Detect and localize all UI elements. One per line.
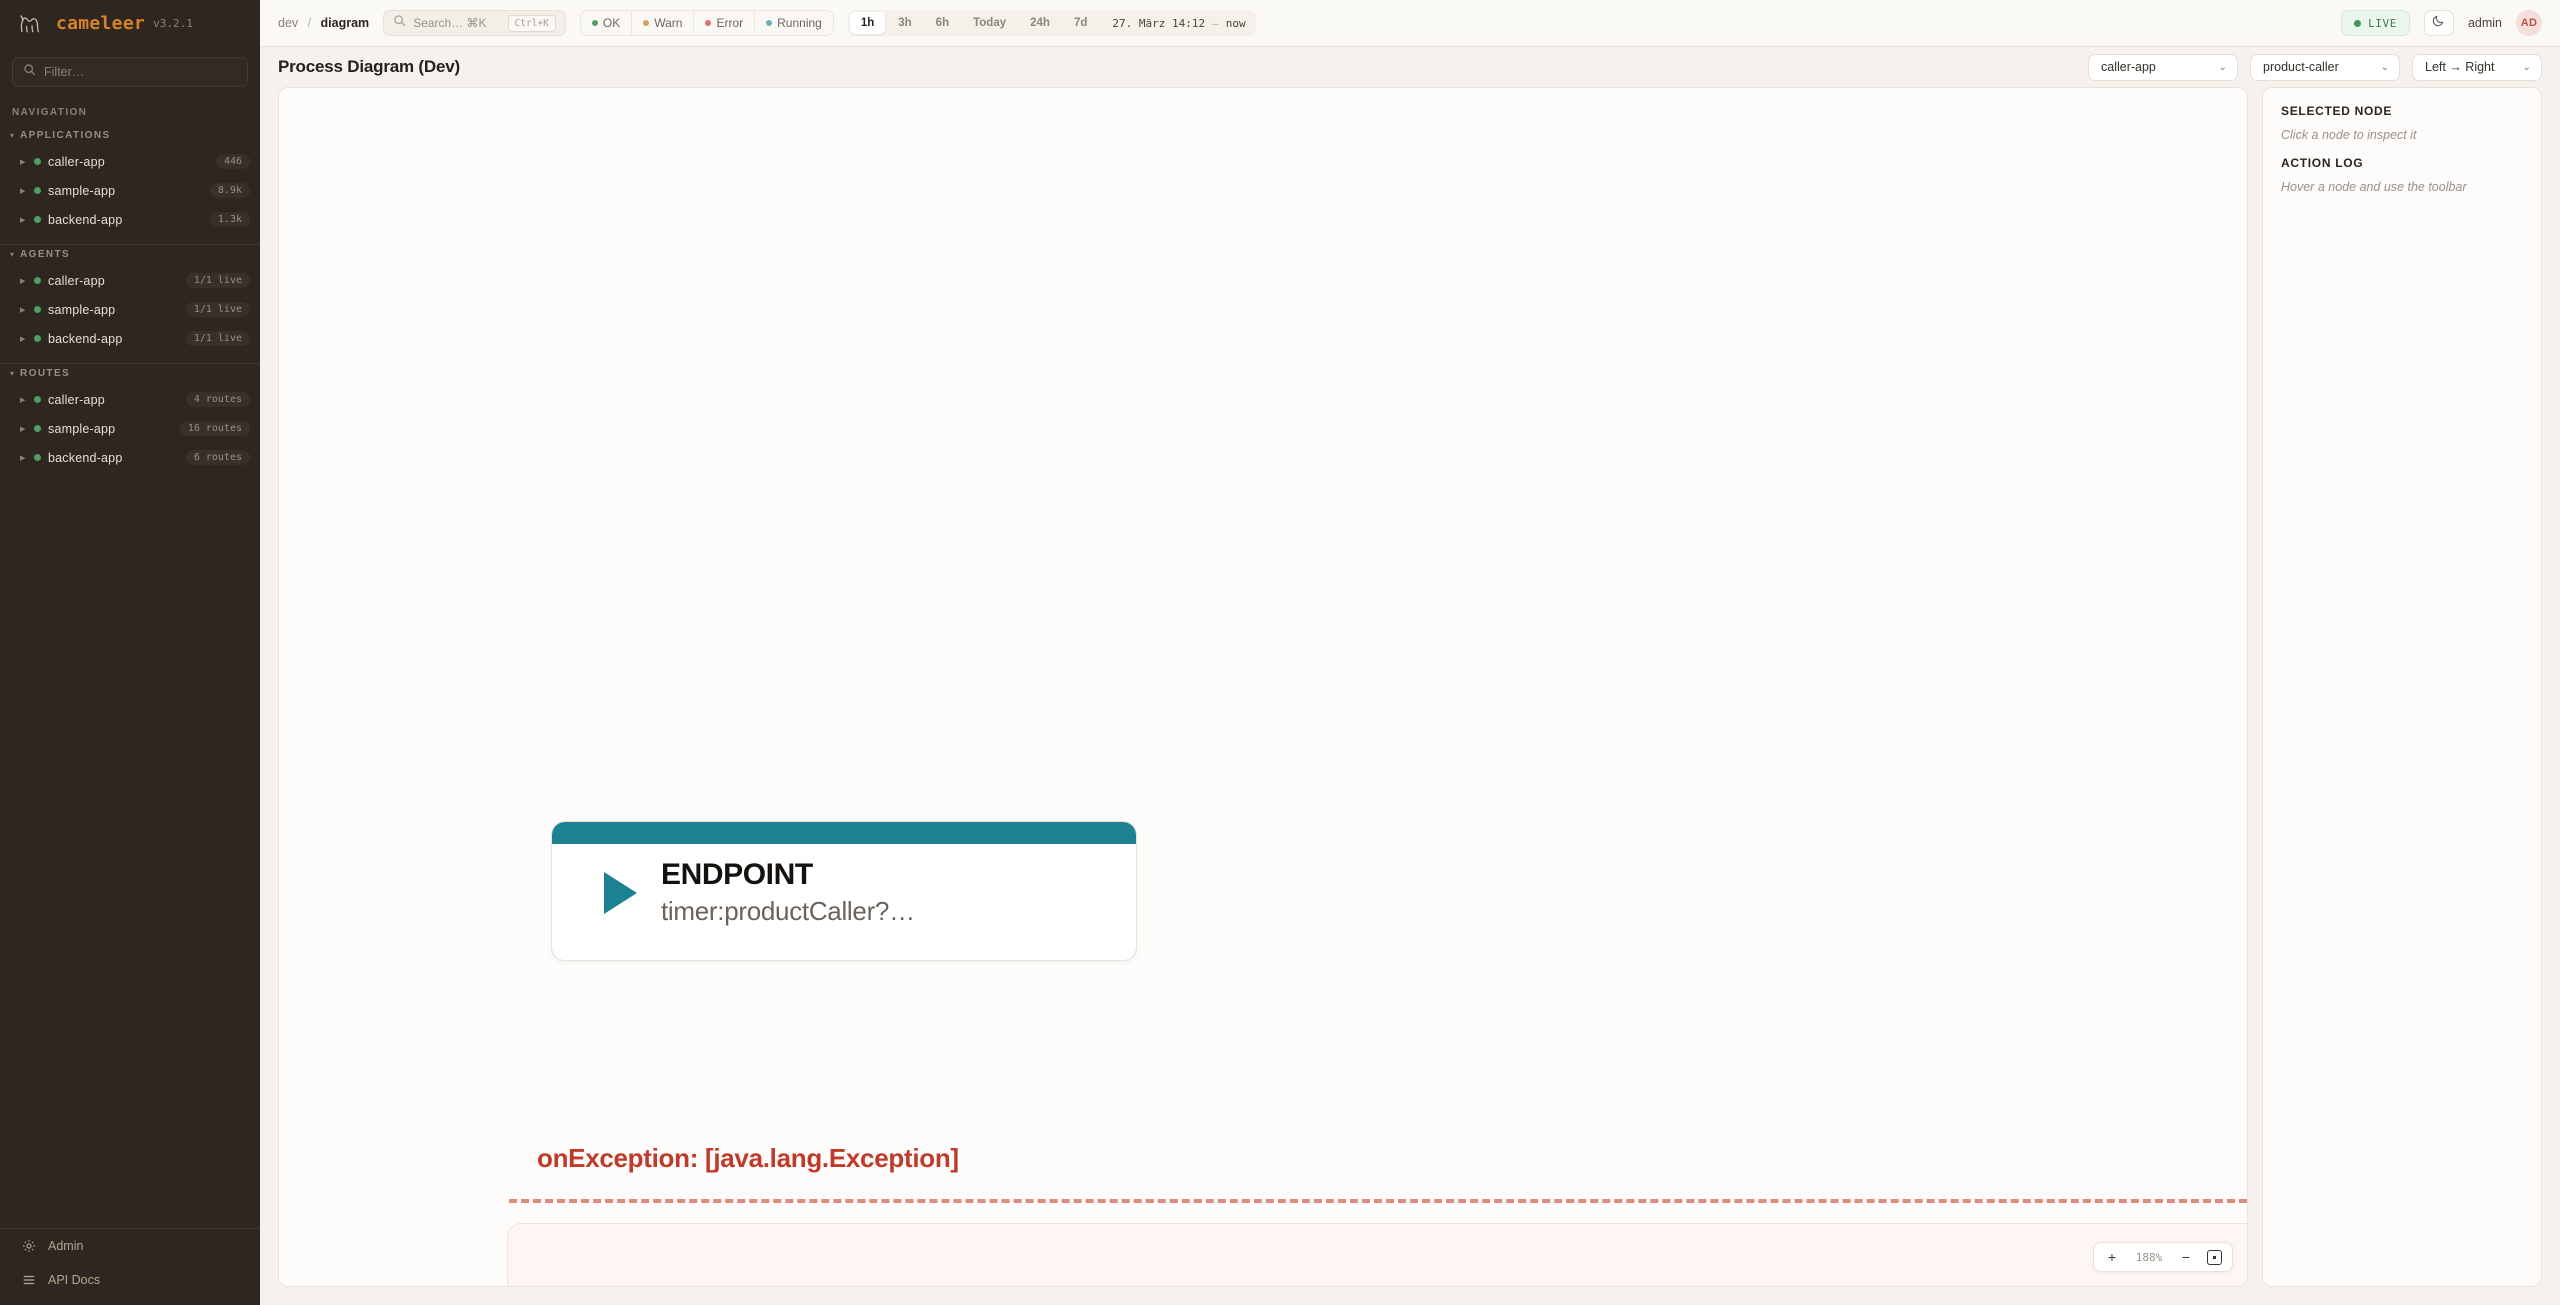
status-filter-error[interactable]: Error xyxy=(694,11,755,35)
page-title: Process Diagram (Dev) xyxy=(278,57,460,77)
status-filter-warn[interactable]: Warn xyxy=(632,11,694,35)
status-dot xyxy=(34,187,41,194)
sidebar-item-label: caller-app xyxy=(48,393,179,407)
page-header: Process Diagram (Dev) caller-app ⌄ produ… xyxy=(260,47,2560,87)
status-dot-running xyxy=(766,20,772,26)
app-root: cameleer v3.2.1 Filter… NAVIGATION ▾ APP… xyxy=(0,0,2560,1305)
chevron-down-icon: ▾ xyxy=(10,132,14,140)
sidebar-item-agents-caller-app[interactable]: ▶ caller-app 1/1 live xyxy=(0,266,260,295)
sidebar-item-admin[interactable]: Admin xyxy=(0,1229,260,1263)
sidebar-item-badge: 16 routes xyxy=(180,421,250,436)
route-select[interactable]: product-caller ⌄ xyxy=(2250,54,2400,81)
diagram-controls: caller-app ⌄ product-caller ⌄ Left → Rig… xyxy=(2088,54,2542,81)
time-range-dash: — xyxy=(1212,17,1219,30)
chevron-right-icon: ▶ xyxy=(20,277,27,285)
sidebar-item-badge: 1/1 live xyxy=(186,302,250,317)
status-dot-ok xyxy=(592,20,598,26)
time-range-3h[interactable]: 3h xyxy=(887,12,922,34)
status-label: Error xyxy=(716,16,743,30)
node-texts: ENDPOINT timer:productCaller?… xyxy=(661,858,915,927)
menu-list-icon xyxy=(22,1273,36,1287)
inspector-panel: SELECTED NODE Click a node to inspect it… xyxy=(2262,87,2542,1287)
sidebar-item-badge: 1.3k xyxy=(210,212,250,227)
status-dot xyxy=(34,335,41,342)
route-select-value: product-caller xyxy=(2263,60,2339,74)
sidebar-group-title: AGENTS xyxy=(20,249,70,260)
chevron-down-icon: ⌄ xyxy=(2381,62,2389,73)
content-row: ENDPOINT timer:productCaller?… onExcepti… xyxy=(260,87,2560,1305)
sidebar-item-badge: 6 routes xyxy=(186,450,250,465)
exception-handler-label: onException: [java.lang.Exception] xyxy=(537,1143,959,1174)
sidebar-item-applications-backend-app[interactable]: ▶ backend-app 1.3k xyxy=(0,205,260,234)
breadcrumb-current: diagram xyxy=(321,16,370,30)
sidebar-group-title: APPLICATIONS xyxy=(20,130,111,141)
breadcrumb: dev / diagram xyxy=(278,14,369,32)
status-dot xyxy=(34,216,41,223)
search-icon xyxy=(23,63,36,81)
sidebar-item-applications-sample-app[interactable]: ▶ sample-app 8.9k xyxy=(0,176,260,205)
sidebar-item-api-docs[interactable]: API Docs xyxy=(0,1263,260,1297)
avatar[interactable]: AD xyxy=(2516,10,2542,36)
status-dot xyxy=(34,396,41,403)
brand[interactable]: cameleer v3.2.1 xyxy=(0,0,260,47)
status-dot xyxy=(34,425,41,432)
live-status-badge[interactable]: LIVE xyxy=(2341,10,2410,36)
zoom-in-button[interactable]: + xyxy=(2100,1245,2124,1269)
sidebar-item-label: caller-app xyxy=(48,155,209,169)
search-input[interactable]: Search… ⌘K Ctrl+K xyxy=(383,10,566,36)
action-log-heading: ACTION LOG xyxy=(2281,156,2523,170)
sidebar-filter-input[interactable]: Filter… xyxy=(12,57,248,87)
chevron-down-icon: ⌄ xyxy=(2523,62,2531,73)
breadcrumb-separator: / xyxy=(308,16,311,30)
search-placeholder: Search… ⌘K xyxy=(413,16,486,30)
fit-to-screen-button[interactable] xyxy=(2202,1245,2226,1269)
time-range-group: 1h 3h 6h Today 24h 7d 27. März 14:12 — n… xyxy=(848,10,1256,36)
sidebar-group-routes[interactable]: ▾ ROUTES xyxy=(0,364,260,385)
sidebar-footer-label: API Docs xyxy=(48,1273,100,1287)
time-range-to: now xyxy=(1226,17,1246,30)
zoom-level: 188% xyxy=(2128,1251,2170,1264)
time-range-7d[interactable]: 7d xyxy=(1063,12,1098,34)
node-uri-label: timer:productCaller?… xyxy=(661,896,915,927)
time-range-today[interactable]: Today xyxy=(962,12,1017,34)
status-dot xyxy=(34,306,41,313)
sidebar-item-badge: 1/1 live xyxy=(186,331,250,346)
sidebar-filter-placeholder: Filter… xyxy=(44,65,84,79)
sidebar-item-badge: 446 xyxy=(216,154,250,169)
status-dot xyxy=(34,158,41,165)
status-dot xyxy=(34,277,41,284)
chevron-right-icon: ▶ xyxy=(20,216,27,224)
sidebar-item-label: sample-app xyxy=(48,184,203,198)
live-dot-icon xyxy=(2354,20,2361,27)
sidebar-item-routes-caller-app[interactable]: ▶ caller-app 4 routes xyxy=(0,385,260,414)
chevron-down-icon: ▾ xyxy=(10,370,14,378)
time-range-24h[interactable]: 24h xyxy=(1019,12,1061,34)
time-range-from: 27. März 14:12 xyxy=(1112,17,1205,30)
sidebar-item-agents-backend-app[interactable]: ▶ backend-app 1/1 live xyxy=(0,324,260,353)
direction-select-value: Left → Right xyxy=(2425,60,2494,74)
sidebar-group-agents[interactable]: ▾ AGENTS xyxy=(0,245,260,266)
app-select[interactable]: caller-app ⌄ xyxy=(2088,54,2238,81)
play-triangle-icon xyxy=(604,872,637,914)
diagram-node-endpoint[interactable]: ENDPOINT timer:productCaller?… xyxy=(551,821,1137,961)
status-label: Running xyxy=(777,16,822,30)
sidebar: cameleer v3.2.1 Filter… NAVIGATION ▾ APP… xyxy=(0,0,260,1305)
theme-toggle-button[interactable] xyxy=(2424,10,2454,36)
sidebar-item-label: sample-app xyxy=(48,303,179,317)
diagram-canvas[interactable]: ENDPOINT timer:productCaller?… onExcepti… xyxy=(278,87,2248,1287)
node-body: ENDPOINT timer:productCaller?… xyxy=(552,844,1136,927)
status-dot xyxy=(34,454,41,461)
time-range-1h[interactable]: 1h xyxy=(850,12,885,34)
action-log-hint: Hover a node and use the toolbar xyxy=(2281,180,2523,194)
sidebar-item-agents-sample-app[interactable]: ▶ sample-app 1/1 live xyxy=(0,295,260,324)
topbar: dev / diagram Search… ⌘K Ctrl+K OK xyxy=(260,0,2560,47)
sidebar-item-badge: 8.9k xyxy=(210,183,250,198)
status-dot-warn xyxy=(643,20,649,26)
moon-icon xyxy=(2432,14,2445,32)
direction-select[interactable]: Left → Right ⌄ xyxy=(2412,54,2542,81)
zoom-out-button[interactable]: − xyxy=(2174,1245,2198,1269)
gear-icon xyxy=(22,1239,36,1253)
brand-version: v3.2.1 xyxy=(153,17,193,30)
brand-name: cameleer xyxy=(56,13,145,34)
status-filter-group: OK Warn Error Running xyxy=(580,10,834,36)
status-filter-running[interactable]: Running xyxy=(755,11,833,35)
chevron-right-icon: ▶ xyxy=(20,396,27,404)
navigation-label: NAVIGATION xyxy=(0,93,260,126)
sidebar-item-routes-backend-app[interactable]: ▶ backend-app 6 routes xyxy=(0,443,260,472)
sidebar-item-badge: 4 routes xyxy=(186,392,250,407)
status-label: OK xyxy=(603,16,620,30)
search-shortcut-kbd: Ctrl+K xyxy=(508,15,556,32)
sidebar-item-label: backend-app xyxy=(48,213,203,227)
search-icon xyxy=(393,14,406,32)
chevron-down-icon: ▾ xyxy=(10,251,14,259)
status-dot-error xyxy=(705,20,711,26)
sidebar-filter-wrap: Filter… xyxy=(0,47,260,93)
selected-node-hint: Click a node to inspect it xyxy=(2281,128,2523,142)
status-filter-ok[interactable]: OK xyxy=(581,11,632,35)
main-area: dev / diagram Search… ⌘K Ctrl+K OK xyxy=(260,0,2560,1305)
sidebar-footer-label: Admin xyxy=(48,1239,83,1253)
sidebar-group-title: ROUTES xyxy=(20,368,70,379)
selected-node-heading: SELECTED NODE xyxy=(2281,104,2523,118)
node-header-bar xyxy=(552,822,1136,844)
user-name: admin xyxy=(2468,16,2502,30)
chevron-right-icon: ▶ xyxy=(20,306,27,314)
chevron-right-icon: ▶ xyxy=(20,335,27,343)
chevron-right-icon: ▶ xyxy=(20,425,27,433)
node-kind-label: ENDPOINT xyxy=(661,858,915,892)
chevron-down-icon: ⌄ xyxy=(2219,62,2227,73)
time-range-6h[interactable]: 6h xyxy=(925,12,960,34)
sidebar-item-label: caller-app xyxy=(48,274,179,288)
chevron-right-icon: ▶ xyxy=(20,187,27,195)
chevron-right-icon: ▶ xyxy=(20,158,27,166)
camel-icon xyxy=(18,12,44,36)
sidebar-item-label: backend-app xyxy=(48,332,179,346)
sidebar-item-applications-caller-app[interactable]: ▶ caller-app 446 xyxy=(0,147,260,176)
exception-boundary-line xyxy=(509,1199,2247,1203)
sidebar-item-routes-sample-app[interactable]: ▶ sample-app 16 routes xyxy=(0,414,260,443)
zoom-controls: + 188% − xyxy=(2093,1242,2233,1272)
chevron-right-icon: ▶ xyxy=(20,454,27,462)
sidebar-item-label: sample-app xyxy=(48,422,173,436)
exception-region xyxy=(507,1223,2248,1287)
sidebar-footer: Admin API Docs xyxy=(0,1218,260,1305)
status-label: Warn xyxy=(654,16,682,30)
time-range-window[interactable]: 27. März 14:12 — now xyxy=(1100,17,1253,30)
sidebar-item-label: backend-app xyxy=(48,451,179,465)
live-label: LIVE xyxy=(2368,17,2397,30)
breadcrumb-root[interactable]: dev xyxy=(278,16,298,30)
app-select-value: caller-app xyxy=(2101,60,2156,74)
fit-to-screen-icon xyxy=(2207,1250,2222,1265)
sidebar-group-applications[interactable]: ▾ APPLICATIONS xyxy=(0,126,260,147)
sidebar-item-badge: 1/1 live xyxy=(186,273,250,288)
